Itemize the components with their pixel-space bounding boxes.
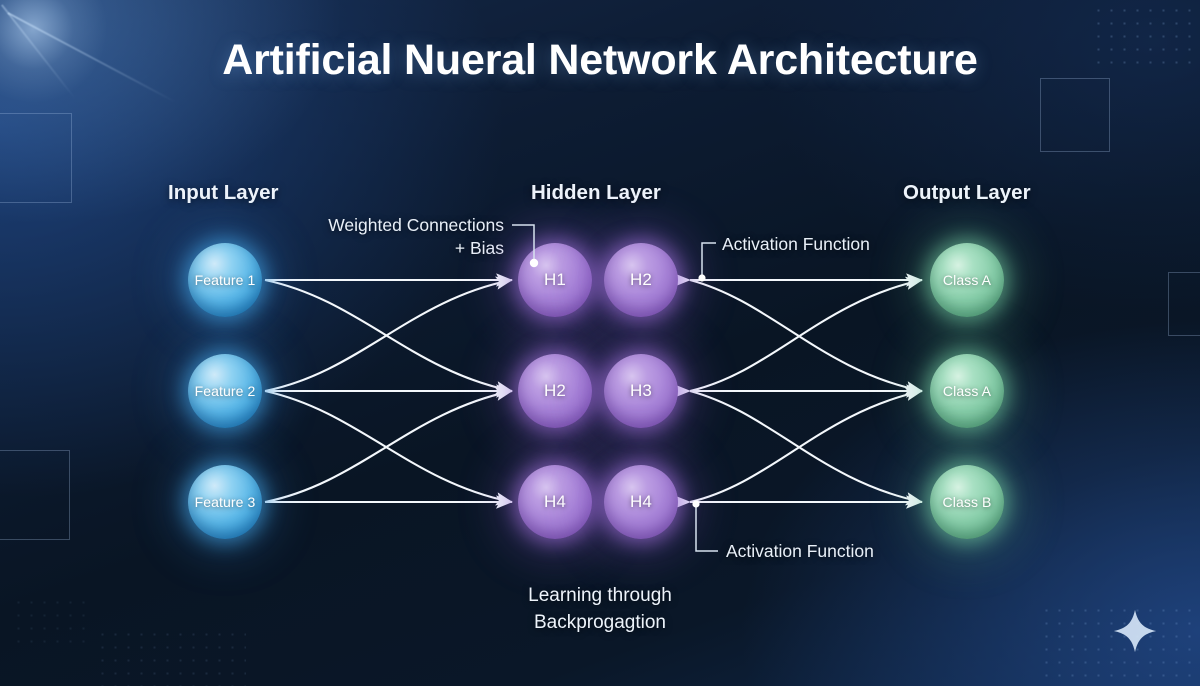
leader-activation-bottom: [696, 505, 718, 551]
leader-endpoint-dot: [692, 500, 699, 507]
leader-activation-top: [702, 243, 716, 277]
leader-endpoint-dot: [698, 274, 705, 281]
leader-endpoint-dot: [530, 259, 538, 267]
slide-canvas: Artificial Nueral Network Architecture I…: [0, 0, 1200, 686]
leader-weighted-connections: [512, 225, 534, 262]
annotation-leaders: [0, 0, 1200, 686]
